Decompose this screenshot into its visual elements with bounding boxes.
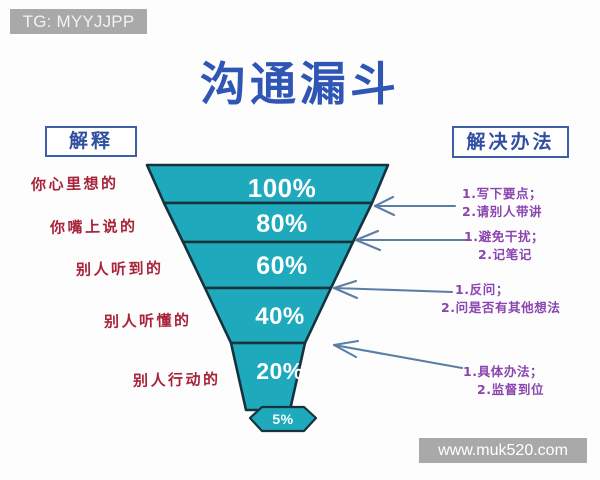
left-label-3: 别人听到的 [76,257,164,280]
left-label-5: 别人行动的 [133,368,221,391]
solution-note-2: 1.避免干扰； 2.记笔记 [464,228,544,264]
solution-note-3: 1.反问； 2.问是否有其他想法 [441,281,560,317]
funnel-percent-2: 80% [232,210,332,239]
solution-note-2-line1: 1.避免干扰； [464,228,544,246]
funnel-percent-tip: 5% [258,411,308,427]
funnel-percent-5: 20% [230,358,330,385]
left-label-2: 你嘴上说的 [50,215,138,238]
left-label-1: 你心里想的 [31,172,119,195]
diagram-canvas: TG: MYYJJPP 沟通漏斗 解释 解决办法 [0,0,600,480]
solution-note-1-line2: 2.请别人带讲 [462,203,542,221]
solution-note-4-line2: 2.监督到位 [463,381,544,399]
site-watermark: www.muk520.com [419,438,587,463]
solution-note-4-line1: 1.具体办法； [463,363,544,381]
solution-note-3-line2: 2.问是否有其他想法 [441,299,560,317]
solution-note-2-line2: 2.记笔记 [464,246,544,264]
arrow-3 [334,288,452,292]
funnel-percent-4: 40% [230,303,330,331]
solution-note-4: 1.具体办法； 2.监督到位 [463,363,544,399]
left-label-4: 别人听懂的 [104,309,192,332]
solution-note-1: 1.写下要点； 2.请别人带讲 [462,185,542,221]
solution-note-3-line1: 1.反问； [441,281,560,299]
solution-note-1-line1: 1.写下要点； [462,185,542,203]
funnel-percent-3: 60% [232,252,332,281]
funnel-percent-1: 100% [227,173,337,204]
